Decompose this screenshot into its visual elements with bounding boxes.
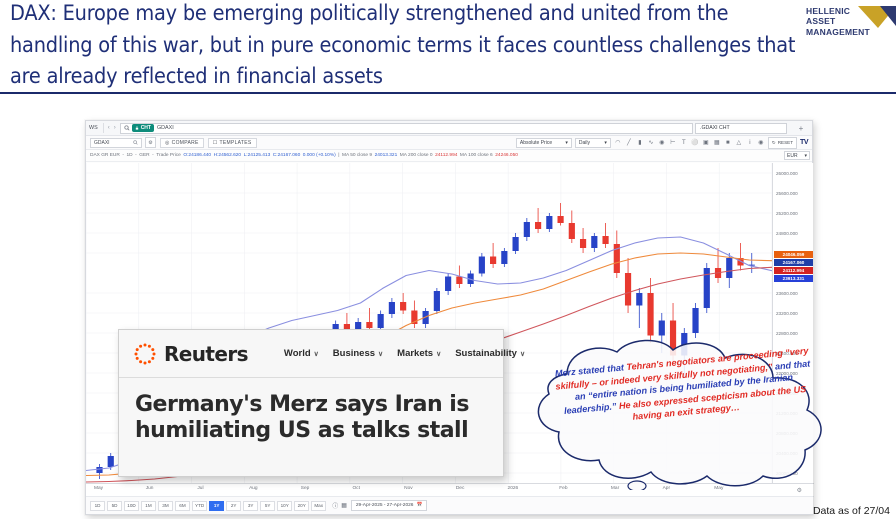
compare-label: COMPARE [172,140,199,146]
range-button-10y[interactable]: 10Y [277,501,292,511]
chevron-down-icon: ▾ [604,140,607,146]
indicator-icon[interactable]: ∿ [647,138,655,147]
toolbar-divider [103,123,104,133]
price-tick: 26000.000 [776,171,798,176]
price-badge: 23913.331 [774,275,813,282]
reset-button[interactable]: ↻ RESET [768,137,797,149]
quote-high: H:24562.620 [214,153,241,158]
reuters-headline-card: Reuters World∨Business∨Markets∨Sustainab… [118,329,504,477]
reuters-nav-label: World [284,348,311,359]
folder-icon: ☐ [213,140,218,146]
refresh-icon: ↻ [772,140,776,146]
ma200-value: 24112.994 [435,153,457,158]
templates-label: TEMPLATES [219,140,251,146]
price-mode-value: Absolute Price [520,140,552,146]
symbol-field-value: GDAXI [94,140,110,146]
alert-icon[interactable]: △ [735,138,743,147]
date-tick: Nov [404,486,413,491]
company-logo: HELLENIC ASSET MANAGEMENT [806,4,896,46]
quote-exchange: GER [139,153,149,158]
ma200-label: MA 200 close 0 [400,153,433,158]
reuters-nav-item-world[interactable]: World∨ [284,348,319,359]
nav-forward-button[interactable]: › [112,125,118,131]
range-button-1y[interactable]: 1Y [209,501,224,511]
quote-field: Trade Price [156,153,181,158]
ma50-value: 24013.321 [375,153,398,158]
terminal-toolbar-primary: WS ‹ › CHT GDAXI .GDAXI CHT + [86,121,812,136]
settings-gear-button[interactable]: ⚙ [145,137,156,148]
date-tick: Sep [301,486,310,491]
quote-low: L:24125.413 [244,153,271,158]
ma50-label: MA 50 close 9 [342,153,372,158]
annotation-icon[interactable]: ◉ [658,138,666,147]
lock-icon [135,126,139,130]
range-selector-bar: 1D5D10D1M3M6MYTD1Y2Y3Y5Y10Y20YMax ⓘ ▦ 29… [86,496,814,514]
price-tick: 25600.000 [776,191,798,196]
date-tick: Jun [146,486,154,491]
reuters-nav-item-markets[interactable]: Markets∨ [397,348,441,359]
chevron-down-icon: ∨ [436,350,441,358]
thought-bubble: Merz stated that Tehran's negotiators ar… [505,338,857,490]
ma100-value: 24246.050 [495,153,518,158]
tradingview-logo: TV [800,139,808,146]
snapshot-icon[interactable]: ■ [724,138,732,147]
range-button-max[interactable]: Max [311,501,326,511]
range-button-10d[interactable]: 10D [124,501,139,511]
date-tick: Jul [197,486,203,491]
price-badge: 24167.060 [774,259,813,266]
range-button-1d[interactable]: 1D [90,501,105,511]
fullscreen-icon[interactable]: ◉ [757,138,765,147]
data-as-of-note: Data as of 27/04 [813,505,890,517]
range-button-1m[interactable]: 1M [141,501,156,511]
layout-icon[interactable]: ▦ [713,138,721,147]
chart-mode-chip[interactable]: CHT [132,124,154,132]
grid-icon[interactable]: ▣ [702,138,710,147]
reuters-brand[interactable]: Reuters [133,342,248,366]
chevron-down-icon: ∨ [378,350,383,358]
quote-change: 0.000 (+0.10%) [303,153,336,158]
date-tick: Dec [456,486,465,491]
quote-instrument: DAX GR EUR [90,153,120,158]
price-badge: 24112.994 [774,267,813,274]
quote-interval: 1D [126,153,132,158]
date-tick: Aug [249,486,258,491]
reuters-logo-icon [133,342,157,366]
magnet-icon[interactable]: ⚪ [691,138,699,147]
tab-chart[interactable]: .GDAXI CHT [695,123,787,134]
reset-label: RESET [778,140,793,145]
compare-icon: ◎ [165,140,170,146]
date-range-input[interactable]: 29-Apr-2025 - 27-Apr-2026 📅 [351,500,428,511]
range-button-5d[interactable]: 5D [107,501,122,511]
reuters-nav-label: Markets [397,348,433,359]
currency-select[interactable]: EUR ▾ [784,151,810,160]
line-type-icon[interactable]: ╱ [625,138,633,147]
date-tick: May [94,486,103,491]
calendar-icon: 📅 [416,503,422,508]
search-icon [133,140,138,145]
symbol-field[interactable]: GDAXI [90,138,142,148]
range-button-20y[interactable]: 20Y [294,501,309,511]
reuters-headline: Germany's Merz says Iran is humiliating … [119,378,503,444]
quote-sep3: - [152,153,154,158]
range-button-3m[interactable]: 3M [158,501,173,511]
frequency-value: Daily [579,140,590,146]
range-button-6m[interactable]: 6M [175,501,190,511]
ma100-label: MA 100 close 6 [460,153,493,158]
terminal-toolbar-secondary: GDAXI ⚙ ◎ COMPARE ☐ TEMPLATES Absolute P… [86,136,812,150]
workspace-label[interactable]: WS [86,121,101,135]
chevron-down-icon: ∨ [314,350,319,358]
range-icon-group: ⓘ ▦ [332,501,347,510]
logo-chevron-icon [854,4,896,30]
price-badge: 24046.059 [774,251,813,258]
range-button-group: 1D5D10D1M3M6MYTD1Y2Y3Y5Y10Y20YMax [90,501,328,511]
add-tab-button[interactable]: + [790,124,812,133]
templates-button[interactable]: ☐ TEMPLATES [208,138,257,148]
symbol-search-input[interactable]: CHT GDAXI [120,123,693,134]
reuters-header-bar: Reuters World∨Business∨Markets∨Sustainab… [119,330,503,378]
quote-sep1: - [122,153,124,158]
price-tick: 23200.000 [776,311,798,316]
date-tick: Oct [352,486,359,491]
symbol-search-value: GDAXI [157,125,174,131]
price-mode-select[interactable]: Absolute Price ▾ [516,138,572,148]
chevron-down-icon: ▾ [804,153,807,159]
currency-value: EUR [787,153,798,159]
quote-summary-line: DAX GR EUR - 1D - GER - Trade Price O:24… [86,150,812,162]
reuters-wordmark: Reuters [164,342,248,366]
toolbar-right-group: Absolute Price ▾ Daily ▾ ◠ ╱ ▮ ∿ ◉ ⊢ T ⚪… [516,137,812,149]
compare-button[interactable]: ◎ COMPARE [160,138,204,148]
price-tick: 23600.000 [776,291,798,296]
info-icon[interactable]: i [746,138,754,147]
price-tick: 22800.000 [776,331,798,336]
quote-sep2: - [135,153,137,158]
bar-type-icon[interactable]: ▮ [636,138,644,147]
page-title: DAX: Europe may be emerging politically … [10,0,800,93]
date-range-value: 29-Apr-2025 - 27-Apr-2026 [356,503,414,508]
quote-sep4: | [338,153,339,158]
price-tick: 25200.000 [776,211,798,216]
reuters-nav: World∨Business∨Markets∨Sustainability∨ [284,348,525,359]
frequency-select[interactable]: Daily ▾ [575,138,611,148]
header-divider [0,92,896,94]
text-tool-icon[interactable]: T [680,138,688,147]
quote-close: C:24167.060 [273,153,300,158]
range-button-2y[interactable]: 2Y [226,501,241,511]
range-button-ytd[interactable]: YTD [192,501,207,511]
reuters-nav-item-business[interactable]: Business∨ [333,348,383,359]
reuters-nav-label: Business [333,348,375,359]
range-button-3y[interactable]: 3Y [243,501,258,511]
price-tick: 24800.000 [776,231,798,236]
measure-icon[interactable]: ⊢ [669,138,677,147]
quote-open: O:24186.440 [183,153,211,158]
calendar-grid-icon[interactable]: ▦ [341,502,347,509]
info-icon[interactable]: ⓘ [332,501,338,510]
search-icon [124,125,130,131]
chevron-down-icon: ▾ [565,140,568,146]
chart-mode-chip-label: CHT [141,125,151,131]
range-button-5y[interactable]: 5Y [260,501,275,511]
candlestick-type-icon[interactable]: ◠ [614,138,622,147]
slide-header: DAX: Europe may be emerging politically … [0,0,896,93]
